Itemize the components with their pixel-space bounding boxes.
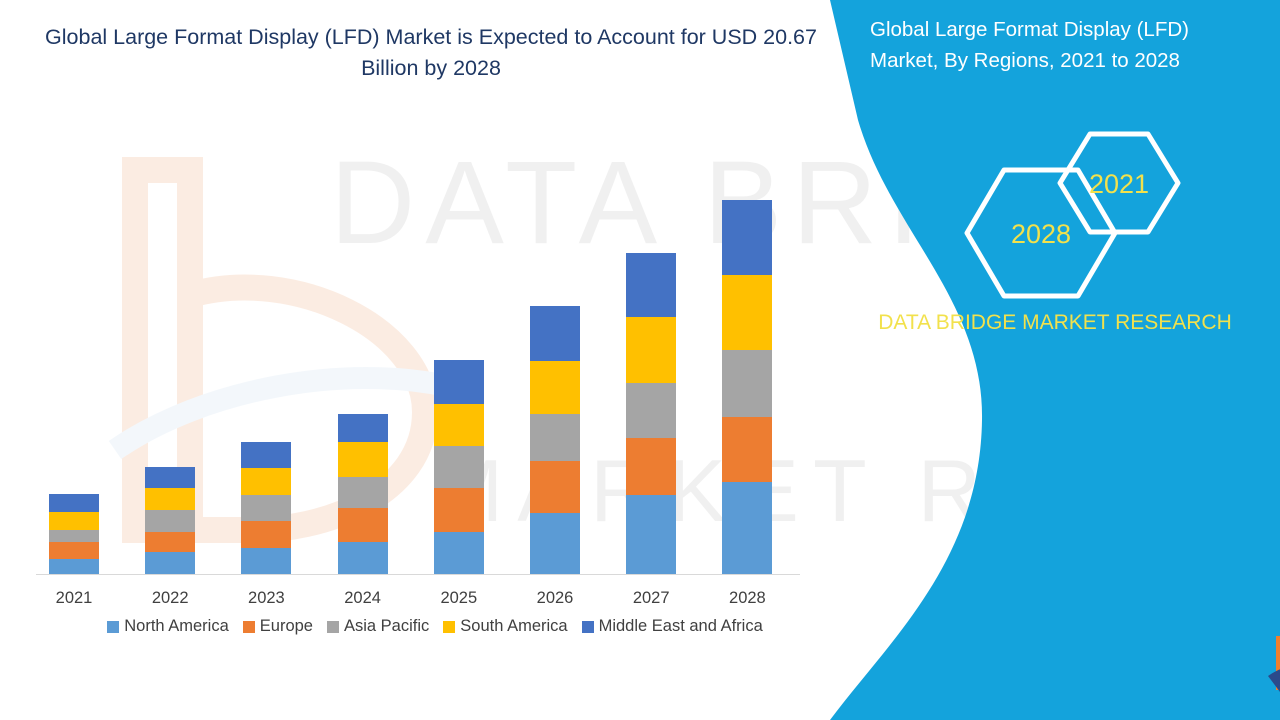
bar-segment[interactable]	[145, 488, 195, 510]
legend-item[interactable]: Asia Pacific	[327, 617, 429, 636]
x-axis-label-2028: 2028	[702, 589, 792, 608]
bar-segment[interactable]	[338, 442, 388, 477]
bar-segment[interactable]	[49, 530, 99, 542]
panel-title: Global Large Format Display (LFD) Market…	[870, 14, 1260, 76]
bar-segment[interactable]	[530, 414, 580, 461]
bar-segment[interactable]	[241, 548, 291, 574]
legend-label: Asia Pacific	[344, 617, 429, 636]
bar-segment[interactable]	[626, 495, 676, 574]
bar-segment[interactable]	[434, 488, 484, 532]
dbmr-logo-mark-icon	[1262, 632, 1280, 698]
legend-item[interactable]: Europe	[243, 617, 313, 636]
bar-2025[interactable]	[434, 360, 484, 574]
bar-2027[interactable]	[626, 253, 676, 574]
hexagon-2028-label: 2028	[1011, 219, 1071, 249]
bar-segment[interactable]	[49, 494, 99, 512]
x-axis-tick-labels: 20212022202320242025202620272028	[0, 589, 860, 615]
bar-segment[interactable]	[626, 253, 676, 317]
bar-segment[interactable]	[722, 417, 772, 482]
bar-segment[interactable]	[530, 361, 580, 414]
bar-2024[interactable]	[338, 414, 388, 574]
bar-segment[interactable]	[626, 383, 676, 438]
x-axis-label-2027: 2027	[606, 589, 696, 608]
legend-swatch-icon	[327, 621, 339, 633]
bar-segment[interactable]	[145, 532, 195, 552]
infographic-root: DATA BRIDGE MARKET RESEARCH Global Large…	[0, 0, 1280, 720]
chart-plot-area: 20212022202320242025202620272028 North A…	[0, 0, 860, 720]
bar-segment[interactable]	[722, 482, 772, 574]
legend-label: South America	[460, 617, 567, 636]
bar-segment[interactable]	[530, 306, 580, 361]
bar-segment[interactable]	[49, 542, 99, 559]
bar-segment[interactable]	[722, 200, 772, 275]
bar-segment[interactable]	[434, 404, 484, 446]
x-axis-label-2023: 2023	[221, 589, 311, 608]
brand-panel: Global Large Format Display (LFD) Market…	[830, 0, 1280, 720]
x-axis-label-2024: 2024	[318, 589, 408, 608]
bar-segment[interactable]	[434, 532, 484, 574]
bar-segment[interactable]	[530, 513, 580, 574]
bar-segment[interactable]	[49, 559, 99, 574]
bar-segment[interactable]	[722, 350, 772, 417]
bar-2023[interactable]	[241, 442, 291, 574]
bar-segment[interactable]	[338, 508, 388, 542]
bar-segment[interactable]	[338, 414, 388, 442]
bar-segment[interactable]	[241, 442, 291, 468]
bar-2028[interactable]	[722, 200, 772, 574]
bar-segment[interactable]	[241, 468, 291, 495]
bar-segment[interactable]	[338, 542, 388, 574]
legend-label: Middle East and Africa	[599, 617, 763, 636]
bar-segment[interactable]	[241, 521, 291, 548]
legend-item[interactable]: Middle East and Africa	[582, 617, 763, 636]
legend-item[interactable]: North America	[107, 617, 229, 636]
dbmr-logo: DATA BRIDGE MARKET RESEARCH	[1260, 630, 1280, 700]
bar-segment[interactable]	[145, 467, 195, 488]
bar-segment[interactable]	[49, 512, 99, 530]
x-axis-line	[36, 574, 800, 575]
legend-swatch-icon	[443, 621, 455, 633]
bar-segment[interactable]	[626, 317, 676, 383]
x-axis-label-2025: 2025	[414, 589, 504, 608]
x-axis-label-2026: 2026	[510, 589, 600, 608]
bar-2022[interactable]	[145, 467, 195, 574]
bar-2021[interactable]	[49, 494, 99, 574]
legend-label: Europe	[260, 617, 313, 636]
brand-panel-background	[830, 0, 1280, 720]
bar-segment[interactable]	[530, 461, 580, 513]
chart-legend: North AmericaEuropeAsia PacificSouth Ame…	[40, 617, 830, 636]
legend-item[interactable]: South America	[443, 617, 567, 636]
x-axis-label-2021: 2021	[29, 589, 119, 608]
legend-label: North America	[124, 617, 229, 636]
bar-segment[interactable]	[241, 495, 291, 521]
bar-segment[interactable]	[145, 510, 195, 532]
bar-segment[interactable]	[626, 438, 676, 495]
legend-swatch-icon	[107, 621, 119, 633]
legend-swatch-icon	[243, 621, 255, 633]
bar-segment[interactable]	[434, 360, 484, 404]
x-axis-label-2022: 2022	[125, 589, 215, 608]
bar-segment[interactable]	[145, 552, 195, 574]
bar-2026[interactable]	[530, 306, 580, 574]
hexagon-2021-label: 2021	[1089, 169, 1149, 199]
hexagon-badges: 2028 2021	[830, 120, 1280, 310]
brand-name: DATA BRIDGE MARKET RESEARCH	[855, 308, 1255, 338]
bar-segment[interactable]	[722, 275, 772, 350]
bar-segment[interactable]	[338, 477, 388, 508]
legend-swatch-icon	[582, 621, 594, 633]
bar-segment[interactable]	[434, 446, 484, 488]
